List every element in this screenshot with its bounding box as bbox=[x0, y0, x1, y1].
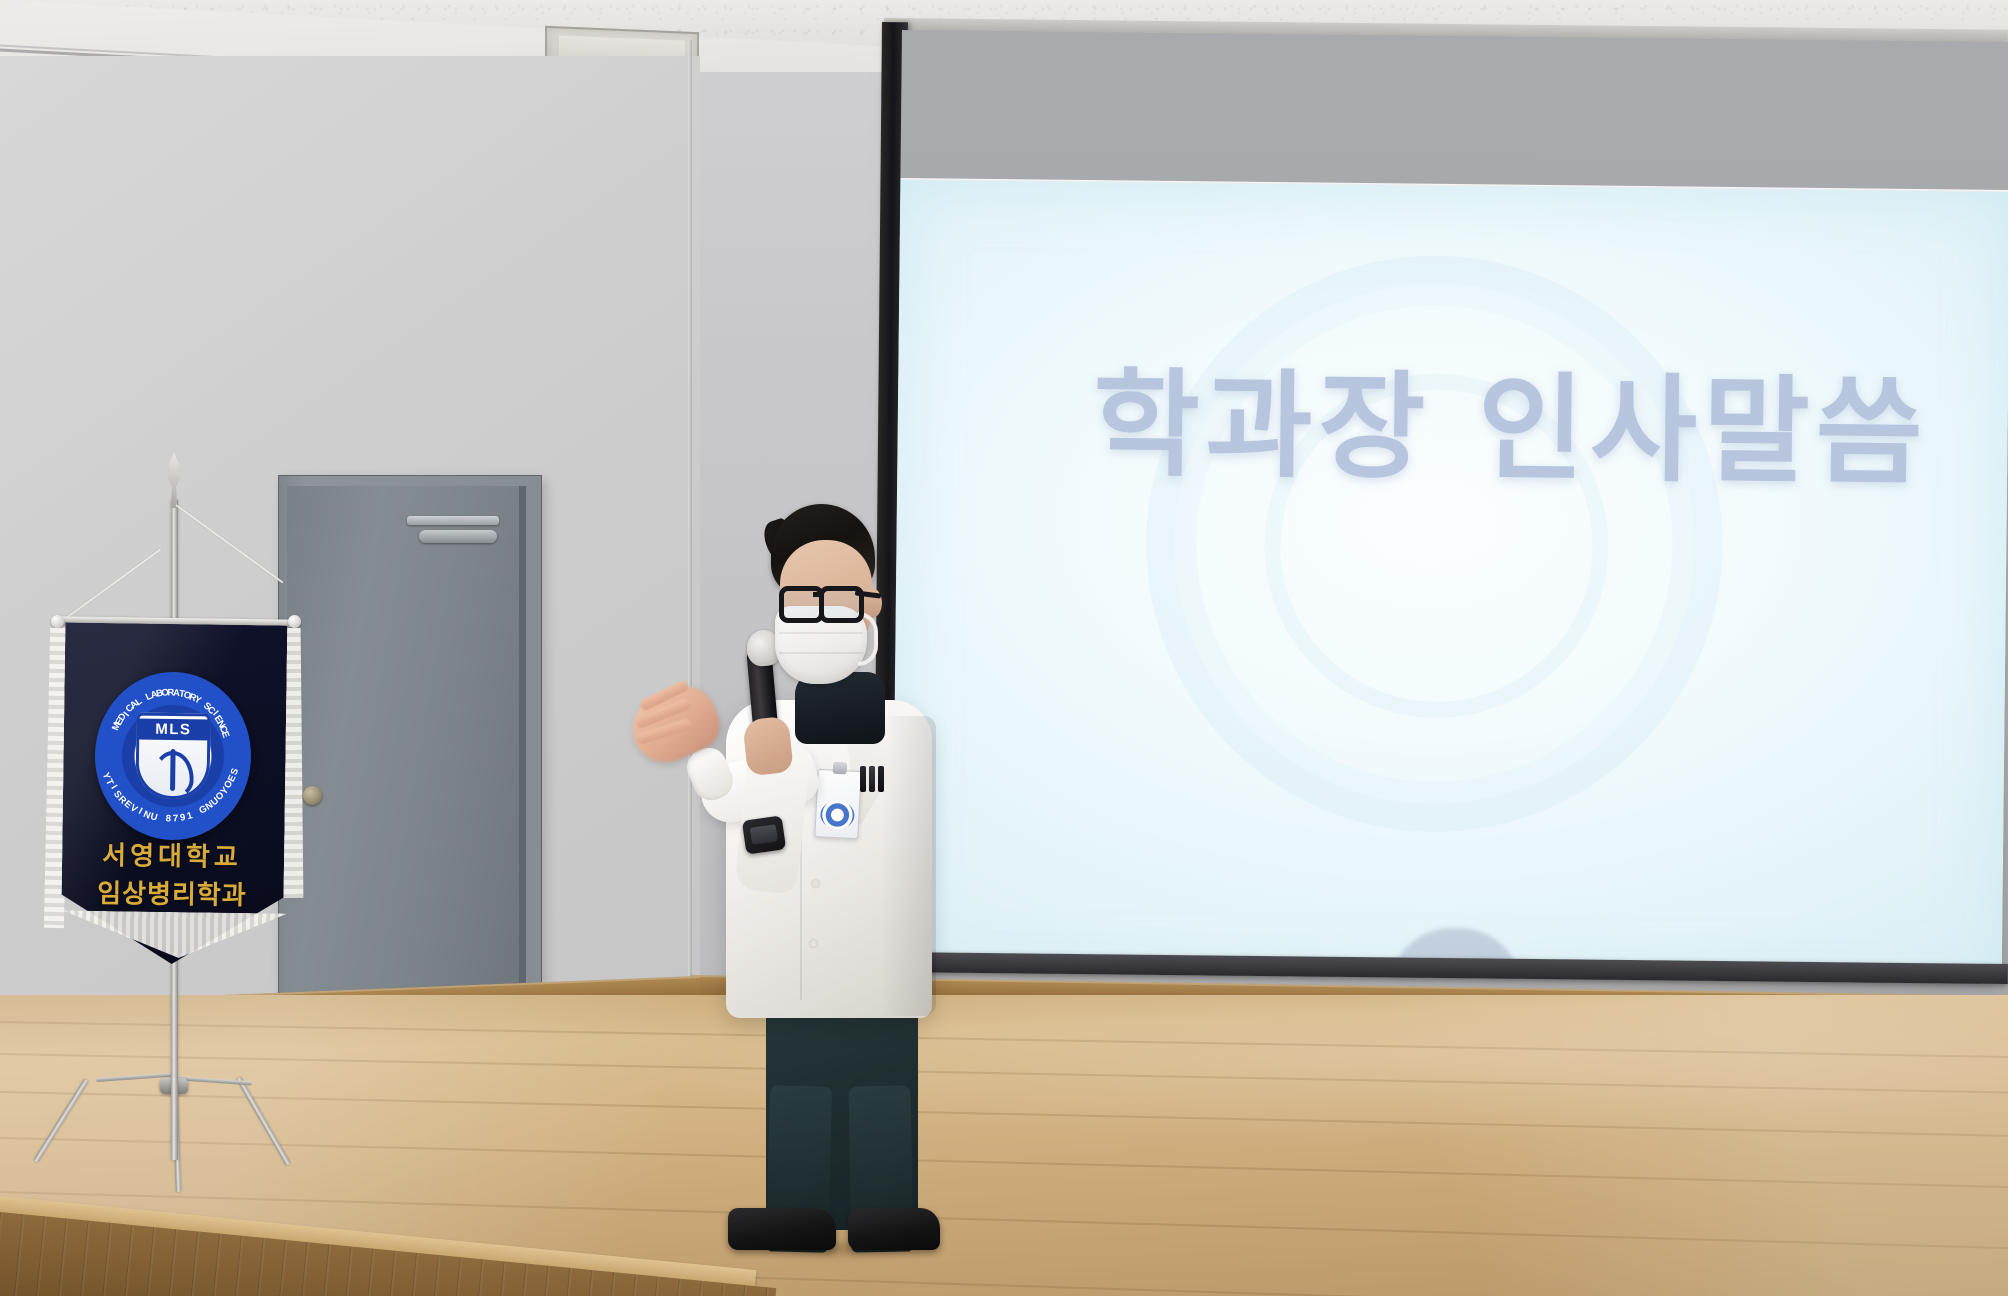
hand-holding-microphone bbox=[742, 716, 794, 777]
lab-coat-button bbox=[812, 880, 819, 887]
pen-icon bbox=[869, 766, 875, 792]
wristwatch bbox=[742, 815, 786, 854]
chest-pocket-pens bbox=[860, 766, 890, 792]
mask-fold bbox=[779, 652, 863, 654]
lab-coat-button bbox=[810, 940, 817, 947]
id-badge bbox=[814, 769, 861, 839]
lecture-hall-photo: 학과장 인사말씀 MEDICAL LABORAT bbox=[0, 0, 2008, 1296]
shoe-right bbox=[848, 1208, 940, 1250]
mask-fold bbox=[779, 632, 863, 634]
shoe-left bbox=[728, 1208, 836, 1250]
lab-coat-shading bbox=[880, 716, 936, 1016]
pen-icon bbox=[878, 766, 884, 792]
watch-face bbox=[750, 824, 778, 844]
badge-logo-icon bbox=[820, 800, 855, 830]
pen-icon bbox=[860, 766, 866, 792]
speaker-figure bbox=[0, 0, 2008, 1296]
eyeglasses-bridge bbox=[813, 592, 822, 597]
badge-clip-icon bbox=[833, 762, 848, 775]
